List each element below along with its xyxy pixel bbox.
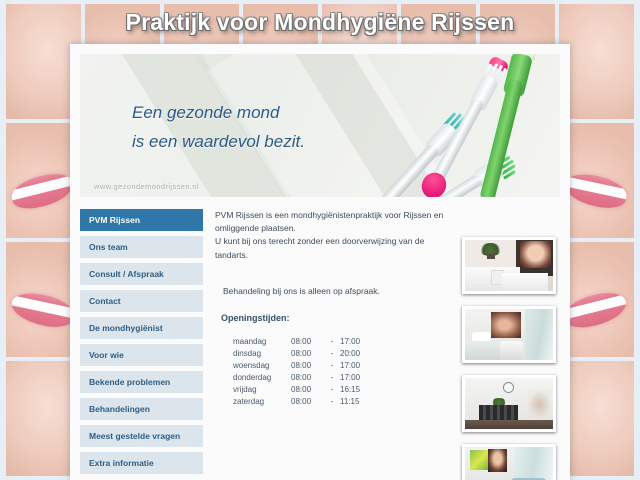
hours-close-time: 11:15 bbox=[340, 396, 373, 408]
treatment-chair-photo[interactable] bbox=[462, 444, 556, 480]
hours-close-time: 17:00 bbox=[340, 336, 373, 348]
table-row: woensdag 08:00 - 17:00 bbox=[233, 360, 373, 372]
sidebar-item-ons-team[interactable]: Ons team bbox=[80, 236, 203, 258]
sidebar-item-consult-afspraak[interactable]: Consult / Afspraak bbox=[80, 263, 203, 285]
sidebar-item-label: Bekende problemen bbox=[89, 377, 170, 387]
hero-banner: Een gezonde mond is een waardevol bezit.… bbox=[80, 54, 560, 197]
sidebar-item-label: PVM Rijssen bbox=[89, 215, 140, 225]
sidebar-item-meest-gestelde-vragen[interactable]: Meest gestelde vragen bbox=[80, 425, 203, 447]
sidebar-item-voor-wie[interactable]: Voor wie bbox=[80, 344, 203, 366]
hours-open-time: 08:00 bbox=[291, 396, 324, 408]
page-title: Praktijk voor Mondhygiëne Rijssen bbox=[126, 9, 515, 36]
hours-separator: - bbox=[324, 360, 340, 372]
sidebar-item-contact[interactable]: Contact bbox=[80, 290, 203, 312]
sidebar-item-label: Consult / Afspraak bbox=[89, 269, 164, 279]
intro-line-1: PVM Rijssen is een mondhygiënistenprakti… bbox=[215, 209, 454, 235]
banner-slogan-line-2: is een waardevol bezit. bbox=[132, 127, 305, 156]
hours-day: vrijdag bbox=[233, 384, 291, 396]
table-row: vrijdag 08:00 - 16:15 bbox=[233, 384, 373, 396]
background-tile bbox=[559, 242, 634, 357]
opening-hours-table: maandag 08:00 - 17:00 dinsdag 08:00 - 20… bbox=[233, 336, 373, 408]
background-tile bbox=[559, 361, 634, 476]
hours-separator: - bbox=[324, 336, 340, 348]
sidebar-item-extra-informatie[interactable]: Extra informatie bbox=[80, 452, 203, 474]
table-row: donderdag 08:00 - 17:00 bbox=[233, 372, 373, 384]
hours-day: zaterdag bbox=[233, 396, 291, 408]
appointment-note: Behandeling bij ons is alleen op afspraa… bbox=[215, 286, 454, 296]
table-row: dinsdag 08:00 - 20:00 bbox=[233, 348, 373, 360]
sidebar-item-label: Ons team bbox=[89, 242, 128, 252]
sidebar-item-de-mondhygienist[interactable]: De mondhygiënist bbox=[80, 317, 203, 339]
page-container: Een gezonde mond is een waardevol bezit.… bbox=[70, 44, 570, 480]
photo-thumbnail-strip bbox=[462, 209, 560, 480]
hours-separator: - bbox=[324, 396, 340, 408]
toothbrush-illustration bbox=[350, 54, 560, 197]
banner-slogan: Een gezonde mond is een waardevol bezit. bbox=[132, 98, 305, 156]
intro-line-2: U kunt bij ons terecht zonder een doorve… bbox=[215, 235, 454, 261]
sidebar-item-bekende-problemen[interactable]: Bekende problemen bbox=[80, 371, 203, 393]
hours-day: donderdag bbox=[233, 372, 291, 384]
hours-close-time: 16:15 bbox=[340, 384, 373, 396]
reception-desk-photo[interactable] bbox=[462, 237, 556, 294]
sidebar-item-label: De mondhygiënist bbox=[89, 323, 163, 333]
hours-open-time: 08:00 bbox=[291, 372, 324, 384]
site-header: Praktijk voor Mondhygiëne Rijssen bbox=[0, 0, 640, 44]
opening-hours-heading: Openingstijden: bbox=[215, 313, 454, 323]
hours-open-time: 08:00 bbox=[291, 360, 324, 372]
hours-close-time: 17:00 bbox=[340, 372, 373, 384]
treatment-room-photo[interactable] bbox=[462, 306, 556, 363]
background-tile bbox=[559, 123, 634, 238]
sidebar-navigation: PVM Rijssen Ons team Consult / Afspraak … bbox=[80, 209, 203, 480]
hours-day: dinsdag bbox=[233, 348, 291, 360]
table-row: maandag 08:00 - 17:00 bbox=[233, 336, 373, 348]
hours-open-time: 08:00 bbox=[291, 348, 324, 360]
main-text-column: PVM Rijssen is een mondhygiënistenprakti… bbox=[215, 209, 454, 480]
hours-separator: - bbox=[324, 372, 340, 384]
hours-close-time: 17:00 bbox=[340, 360, 373, 372]
main-column: PVM Rijssen is een mondhygiënistenprakti… bbox=[215, 209, 560, 480]
sidebar-item-behandelingen[interactable]: Behandelingen bbox=[80, 398, 203, 420]
sidebar-item-label: Contact bbox=[89, 296, 121, 306]
sidebar-item-label: Behandelingen bbox=[89, 404, 150, 414]
banner-watermark: www.gezondemondrijssen.nl bbox=[94, 182, 199, 191]
hallway-products-photo[interactable] bbox=[462, 375, 556, 432]
hours-close-time: 20:00 bbox=[340, 348, 373, 360]
sidebar-item-label: Voor wie bbox=[89, 350, 124, 360]
banner-slogan-line-1: Een gezonde mond bbox=[132, 98, 305, 127]
hours-open-time: 08:00 bbox=[291, 384, 324, 396]
content-area: PVM Rijssen Ons team Consult / Afspraak … bbox=[70, 197, 570, 480]
sidebar-item-label: Extra informatie bbox=[89, 458, 154, 468]
hours-open-time: 08:00 bbox=[291, 336, 324, 348]
table-row: zaterdag 08:00 - 11:15 bbox=[233, 396, 373, 408]
hours-day: woensdag bbox=[233, 360, 291, 372]
sidebar-item-pvm-rijssen[interactable]: PVM Rijssen bbox=[80, 209, 203, 231]
hours-separator: - bbox=[324, 348, 340, 360]
hours-separator: - bbox=[324, 384, 340, 396]
hours-day: maandag bbox=[233, 336, 291, 348]
sidebar-item-label: Meest gestelde vragen bbox=[89, 431, 180, 441]
intro-paragraph: PVM Rijssen is een mondhygiënistenprakti… bbox=[215, 209, 454, 262]
